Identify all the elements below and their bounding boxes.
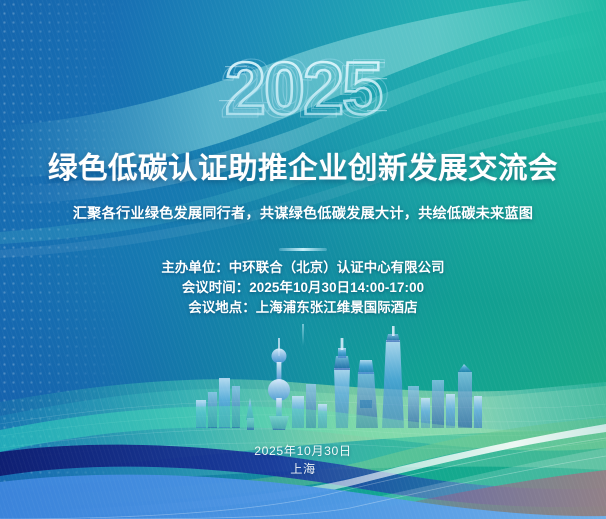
page-title: 绿色低碳认证助推企业创新发展交流会 bbox=[0, 152, 606, 187]
detail-stem-line bbox=[302, 324, 304, 346]
event-details: 主办单位：中环联合（北京）认证中心有限公司 会议时间：2025年10月30日14… bbox=[0, 258, 606, 318]
footer-block: 2025年10月30日 上海 bbox=[0, 442, 606, 478]
year-badge: 2025 bbox=[0, 48, 606, 137]
page-subtitle: 汇聚各行业绿色发展同行者，共谋绿色低碳发展大计，共绘低碳未来蓝图 bbox=[0, 203, 606, 223]
detail-datetime: 会议时间：2025年10月30日14:00-17:00 bbox=[0, 278, 606, 298]
conference-poster: 2025 bbox=[0, 0, 606, 519]
detail-organizer: 主办单位：中环联合（北京）认证中心有限公司 bbox=[0, 258, 606, 278]
footer-date: 2025年10月30日 bbox=[0, 442, 606, 460]
footer-city: 上海 bbox=[0, 460, 606, 478]
title-divider bbox=[279, 248, 327, 251]
detail-venue: 会议地点：上海浦东张江维景国际酒店 bbox=[0, 298, 606, 318]
